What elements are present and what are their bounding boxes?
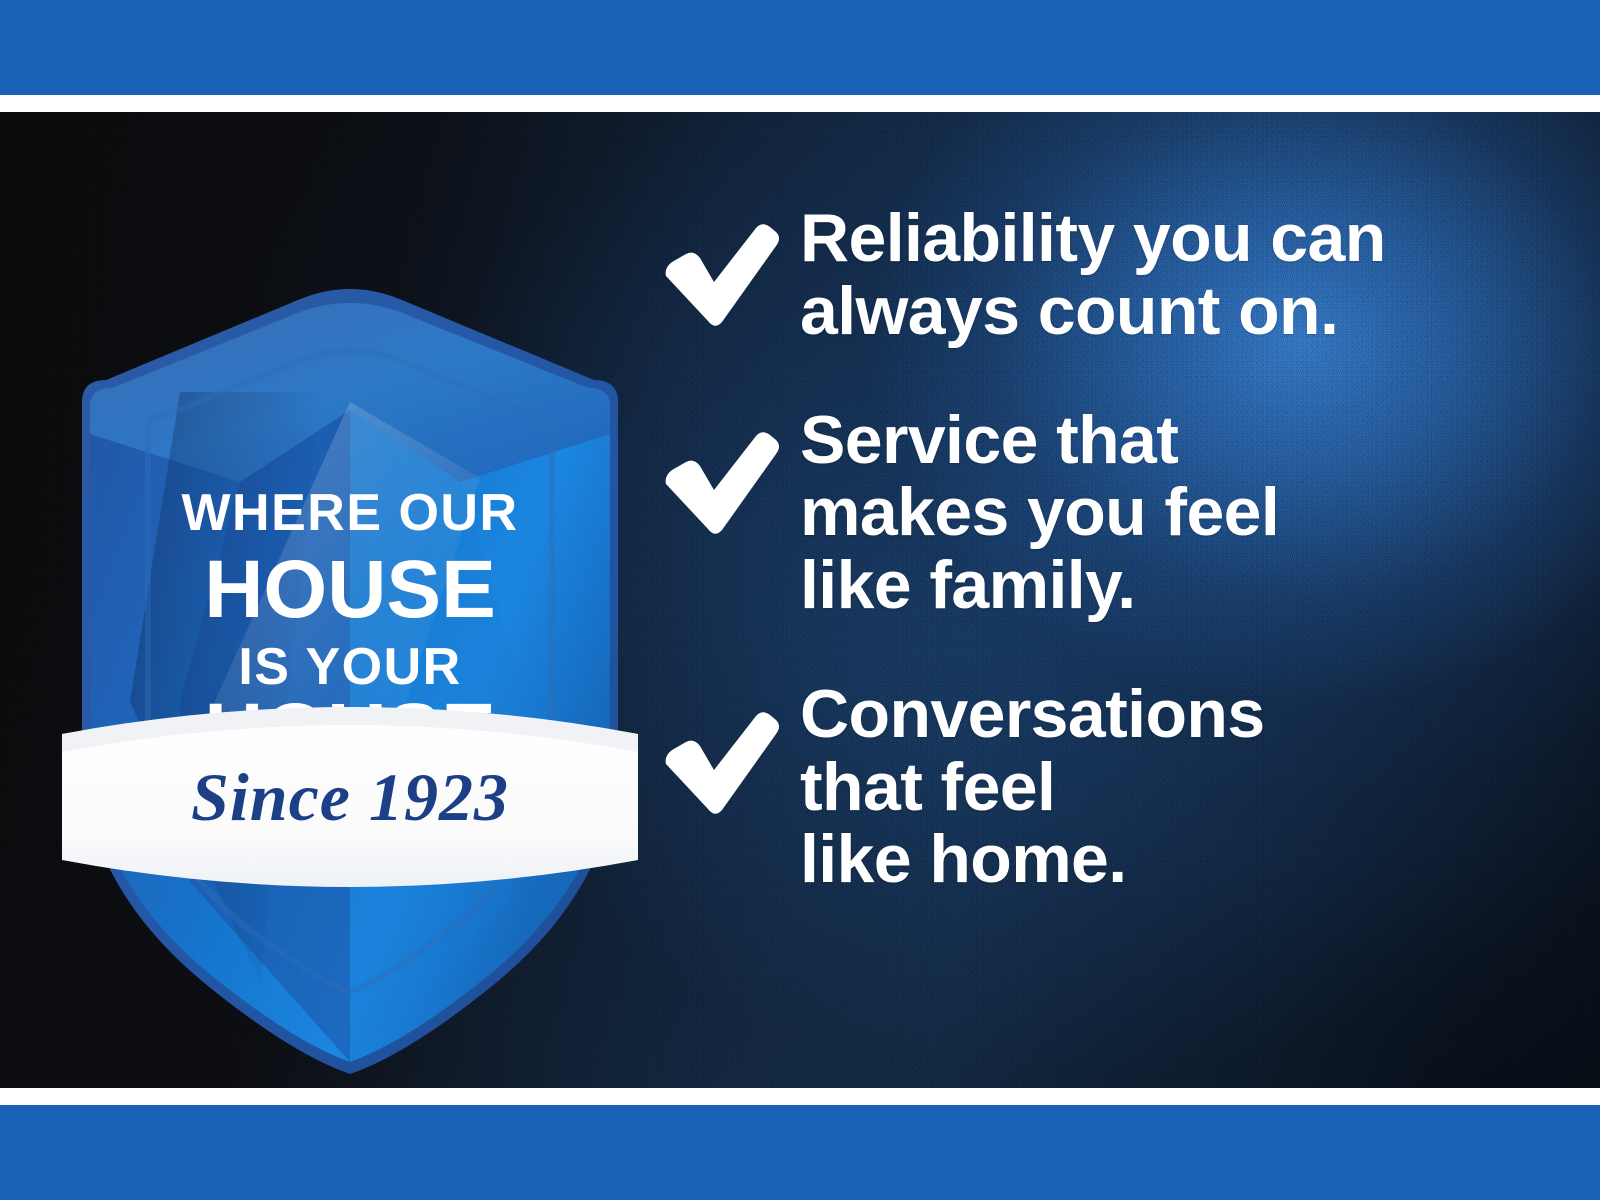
- benefit-item: Reliability you can always count on.: [660, 202, 1540, 348]
- benefit-text: Service that makes you feel like family.: [800, 404, 1279, 622]
- checkmark-icon: [660, 202, 800, 328]
- benefit-text: Reliability you can always count on.: [800, 202, 1386, 348]
- badge-line-1: WHERE OUR: [181, 484, 518, 542]
- benefit-item: Service that makes you feel like family.: [660, 404, 1540, 622]
- main-panel: WHERE OUR HOUSE IS YOUR HOUSE Since 1923: [0, 112, 1600, 1088]
- shield-badge: WHERE OUR HOUSE IS YOUR HOUSE Since 1923: [60, 282, 640, 1072]
- badge-line-2: HOUSE: [204, 544, 496, 635]
- top-brand-bar: [0, 0, 1600, 95]
- badge-ribbon-text: Since 1923: [191, 759, 509, 835]
- benefit-list: Reliability you can always count on. Ser…: [660, 202, 1540, 896]
- checkmark-icon: [660, 404, 800, 536]
- benefit-item: Conversations that feel like home.: [660, 678, 1540, 896]
- promo-graphic: WHERE OUR HOUSE IS YOUR HOUSE Since 1923: [0, 0, 1600, 1200]
- bottom-brand-bar: [0, 1105, 1600, 1200]
- benefit-text: Conversations that feel like home.: [800, 678, 1265, 896]
- checkmark-icon: [660, 678, 800, 816]
